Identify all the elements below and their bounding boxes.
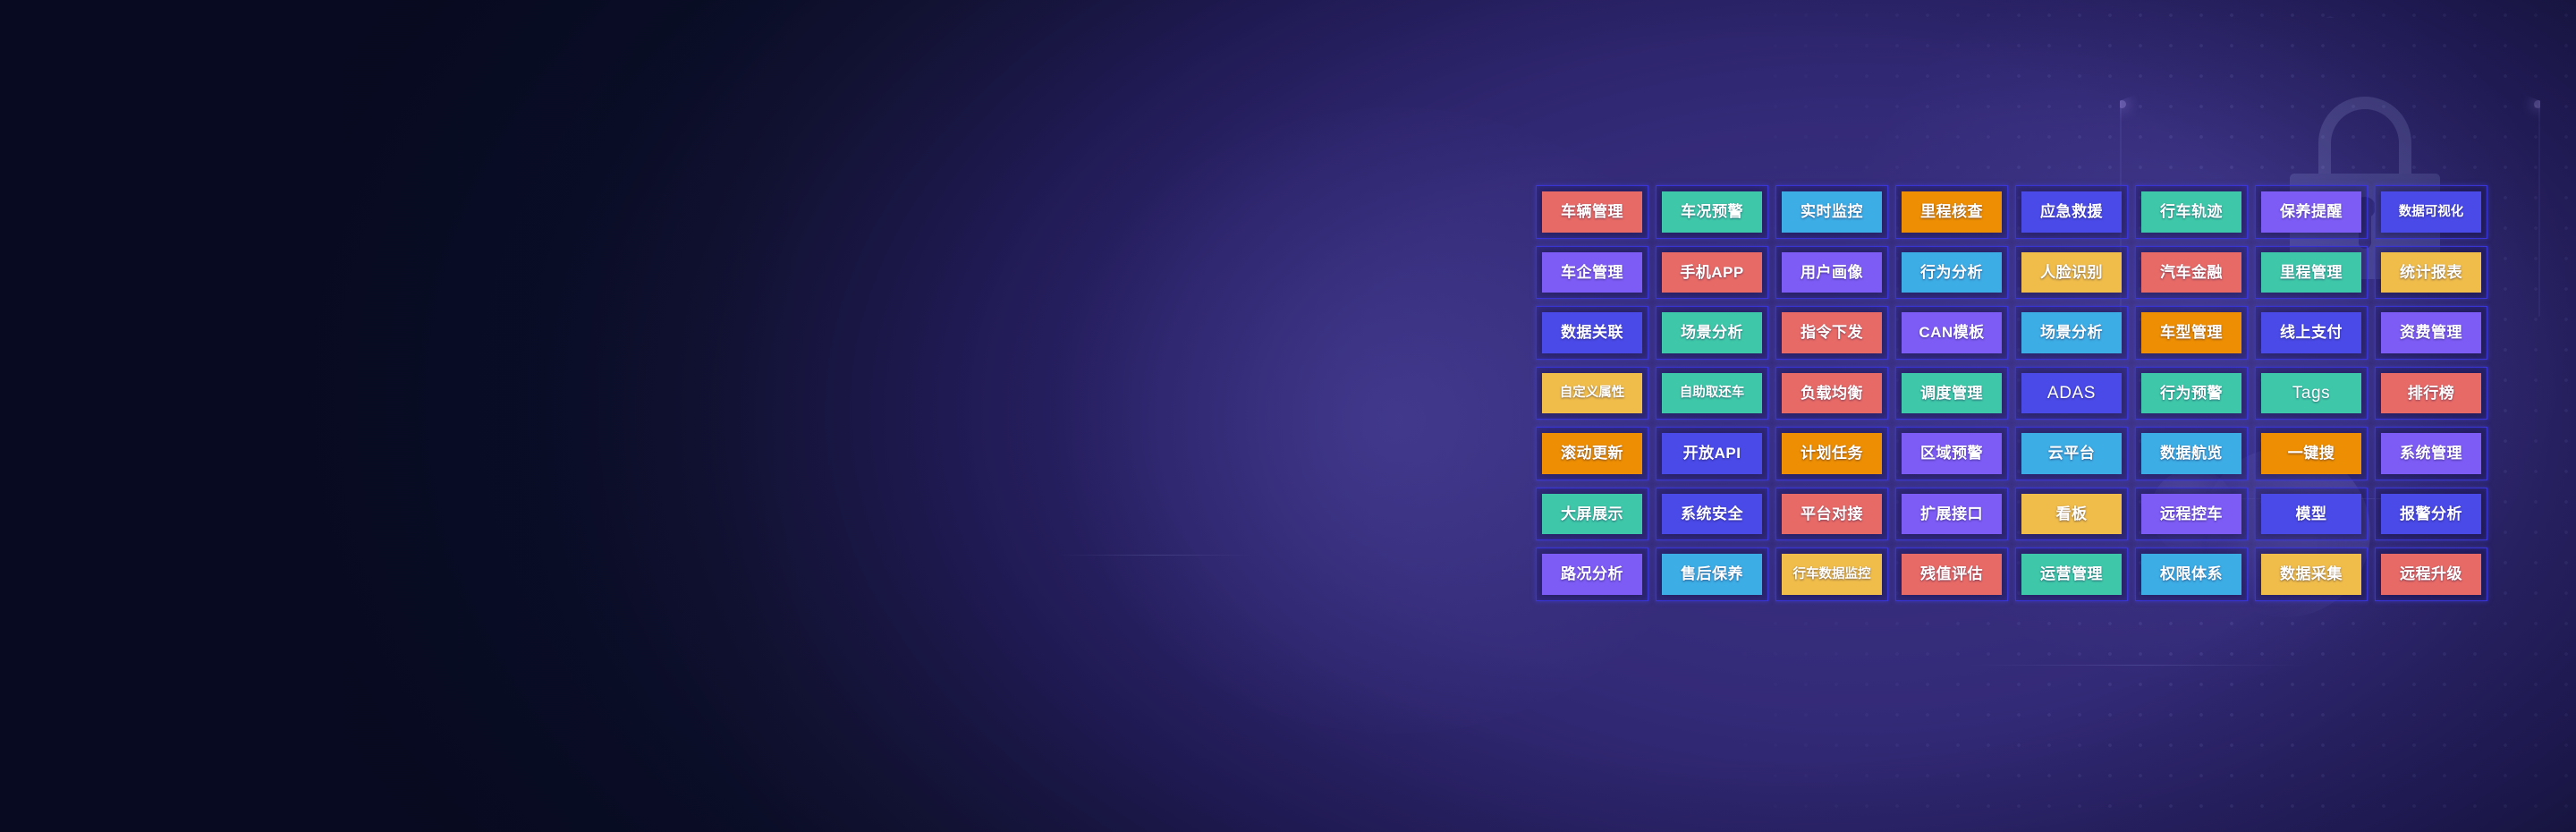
feature-tile[interactable]: 一键搜 bbox=[2253, 425, 2373, 486]
tile-label: 云平台 bbox=[2048, 446, 2096, 461]
tile-fill: 应急救援 bbox=[2021, 191, 2122, 233]
tile-label: 模型 bbox=[2296, 506, 2327, 522]
tile-fill: 汽车金融 bbox=[2141, 252, 2241, 293]
feature-tile[interactable]: 售后保养 bbox=[1654, 546, 1774, 607]
tile-label: 一键搜 bbox=[2288, 446, 2335, 461]
feature-tile[interactable]: 数据采集 bbox=[2253, 546, 2373, 607]
tile-fill: 数据关联 bbox=[1542, 312, 1642, 353]
tile-fill: 自助取还车 bbox=[1662, 373, 1762, 414]
feature-tile[interactable]: 运营管理 bbox=[2013, 546, 2133, 607]
tile-label: 行车数据监控 bbox=[1793, 568, 1871, 582]
tile-fill: 行为预警 bbox=[2141, 373, 2241, 414]
feature-tile[interactable]: 实时监控 bbox=[1774, 183, 1894, 244]
tile-fill: 负载均衡 bbox=[1782, 373, 1882, 414]
feature-tile[interactable]: 模型 bbox=[2253, 486, 2373, 547]
tile-fill: 行为分析 bbox=[1902, 252, 2002, 293]
tile-label: 数据可视化 bbox=[2399, 206, 2464, 219]
tile-label: 车企管理 bbox=[1561, 265, 1623, 280]
tile-label: CAN模板 bbox=[1919, 325, 1984, 340]
feature-tile[interactable]: 线上支付 bbox=[2253, 304, 2373, 365]
feature-tile[interactable]: 残值评估 bbox=[1894, 546, 2013, 607]
feature-tile[interactable]: 扩展接口 bbox=[1894, 486, 2013, 547]
tile-fill: 系统管理 bbox=[2381, 433, 2481, 474]
tile-fill: 车辆管理 bbox=[1542, 191, 1642, 233]
feature-tile[interactable]: 看板 bbox=[2013, 486, 2133, 547]
tile-label: 人脸识别 bbox=[2040, 265, 2103, 280]
feature-tile[interactable]: 行车轨迹 bbox=[2133, 183, 2253, 244]
tile-label: 权限体系 bbox=[2160, 566, 2223, 582]
feature-tile[interactable]: 数据关联 bbox=[1534, 304, 1654, 365]
tile-label: 实时监控 bbox=[1801, 204, 1863, 219]
tile-fill: 路况分析 bbox=[1542, 554, 1642, 595]
feature-tile[interactable]: 人脸识别 bbox=[2013, 244, 2133, 305]
feature-tile[interactable]: 数据航览 bbox=[2133, 425, 2253, 486]
feature-tile[interactable]: CAN模板 bbox=[1894, 304, 2013, 365]
tile-fill: 人脸识别 bbox=[2021, 252, 2122, 293]
tile-label: 报警分析 bbox=[2400, 506, 2462, 522]
tile-label: 数据采集 bbox=[2280, 566, 2343, 582]
tile-label: 场景分析 bbox=[2040, 325, 2103, 340]
feature-tile[interactable]: 权限体系 bbox=[2133, 546, 2253, 607]
tile-label: 里程核查 bbox=[1920, 204, 1983, 219]
tile-fill: 统计报表 bbox=[2381, 252, 2481, 293]
tile-fill: 数据可视化 bbox=[2381, 191, 2481, 233]
tile-label: 扩展接口 bbox=[1920, 506, 1983, 522]
tile-fill: 远程控车 bbox=[2141, 494, 2241, 535]
feature-tile[interactable]: 行车数据监控 bbox=[1774, 546, 1894, 607]
tile-label: 里程管理 bbox=[2280, 265, 2343, 280]
tile-fill: 行车轨迹 bbox=[2141, 191, 2241, 233]
feature-tile[interactable]: 开放API bbox=[1654, 425, 1774, 486]
tile-label: 开放API bbox=[1683, 446, 1741, 461]
feature-tile[interactable]: 车企管理 bbox=[1534, 244, 1654, 305]
feature-tile[interactable]: 负载均衡 bbox=[1774, 365, 1894, 426]
tile-label: 排行榜 bbox=[2408, 386, 2455, 401]
tile-label: 区域预警 bbox=[1920, 446, 1983, 461]
tile-fill: 模型 bbox=[2261, 494, 2361, 535]
tile-label: 大屏展示 bbox=[1561, 506, 1623, 522]
feature-tile[interactable]: 场景分析 bbox=[1654, 304, 1774, 365]
tile-label: 平台对接 bbox=[1801, 506, 1863, 522]
tile-fill: 数据采集 bbox=[2261, 554, 2361, 595]
tile-fill: 开放API bbox=[1662, 433, 1762, 474]
tile-fill: Tags bbox=[2261, 373, 2361, 414]
tile-fill: 车况预警 bbox=[1662, 191, 1762, 233]
feature-tile[interactable]: 计划任务 bbox=[1774, 425, 1894, 486]
tile-fill: 运营管理 bbox=[2021, 554, 2122, 595]
tile-fill: 实时监控 bbox=[1782, 191, 1882, 233]
feature-tile[interactable]: 区域预警 bbox=[1894, 425, 2013, 486]
feature-tile[interactable]: 里程核查 bbox=[1894, 183, 2013, 244]
tile-label: 统计报表 bbox=[2400, 265, 2462, 280]
tile-fill: 行车数据监控 bbox=[1782, 554, 1882, 595]
tile-label: 手机APP bbox=[1680, 265, 1743, 280]
feature-tile[interactable]: ADAS bbox=[2013, 365, 2133, 426]
tile-fill: 大屏展示 bbox=[1542, 494, 1642, 535]
tile-label: Tags bbox=[2292, 385, 2331, 402]
tile-fill: 手机APP bbox=[1662, 252, 1762, 293]
tile-label: 数据关联 bbox=[1561, 325, 1623, 340]
tile-label: 场景分析 bbox=[1681, 325, 1743, 340]
tile-fill: 看板 bbox=[2021, 494, 2122, 535]
tile-label: 自助取还车 bbox=[1680, 386, 1745, 400]
tile-fill: 车型管理 bbox=[2141, 312, 2241, 353]
feature-tile[interactable]: 自助取还车 bbox=[1654, 365, 1774, 426]
feature-tile[interactable]: 统计报表 bbox=[2373, 244, 2493, 305]
tile-label: 用户画像 bbox=[1801, 265, 1863, 280]
tile-label: 车型管理 bbox=[2160, 325, 2223, 340]
feature-tile[interactable]: 车况预警 bbox=[1654, 183, 1774, 244]
feature-tile[interactable]: 应急救援 bbox=[2013, 183, 2133, 244]
tile-fill: 一键搜 bbox=[2261, 433, 2361, 474]
tile-fill: 平台对接 bbox=[1782, 494, 1882, 535]
tile-label: 线上支付 bbox=[2280, 325, 2343, 340]
tile-label: 远程升级 bbox=[2400, 566, 2462, 582]
tile-label: 车辆管理 bbox=[1561, 204, 1623, 219]
tile-fill: ADAS bbox=[2021, 373, 2122, 414]
feature-tile[interactable]: 平台对接 bbox=[1774, 486, 1894, 547]
tile-label: ADAS bbox=[2047, 385, 2096, 402]
tile-fill: 线上支付 bbox=[2261, 312, 2361, 353]
tile-fill: 里程管理 bbox=[2261, 252, 2361, 293]
feature-tile[interactable]: 用户画像 bbox=[1774, 244, 1894, 305]
tile-label: 车况预警 bbox=[1681, 204, 1743, 219]
tile-fill: 指令下发 bbox=[1782, 312, 1882, 353]
tile-label: 运营管理 bbox=[2040, 566, 2103, 582]
feature-tile[interactable]: 汽车金融 bbox=[2133, 244, 2253, 305]
tile-fill: 里程核查 bbox=[1902, 191, 2002, 233]
tile-fill: 排行榜 bbox=[2381, 373, 2481, 414]
tile-fill: 残值评估 bbox=[1902, 554, 2002, 595]
tile-label: 残值评估 bbox=[1920, 566, 1983, 582]
tile-label: 资费管理 bbox=[2400, 325, 2462, 340]
tile-label: 自定义属性 bbox=[1560, 386, 1625, 400]
tile-label: 行为分析 bbox=[1920, 265, 1983, 280]
feature-tile[interactable]: 自定义属性 bbox=[1534, 365, 1654, 426]
feature-tile[interactable]: 车型管理 bbox=[2133, 304, 2253, 365]
tile-fill: 自定义属性 bbox=[1542, 373, 1642, 414]
feature-tile[interactable]: 排行榜 bbox=[2373, 365, 2493, 426]
tile-fill: 场景分析 bbox=[2021, 312, 2122, 353]
tile-label: 路况分析 bbox=[1561, 566, 1623, 582]
tile-label: 远程控车 bbox=[2160, 506, 2223, 522]
tile-label: 行为预警 bbox=[2160, 386, 2223, 401]
tile-label: 系统安全 bbox=[1681, 506, 1743, 522]
tile-fill: 滚动更新 bbox=[1542, 433, 1642, 474]
tile-fill: 权限体系 bbox=[2141, 554, 2241, 595]
feature-tile[interactable]: 数据可视化 bbox=[2373, 183, 2493, 244]
tile-fill: 售后保养 bbox=[1662, 554, 1762, 595]
feature-tile[interactable]: 调度管理 bbox=[1894, 365, 2013, 426]
tile-fill: 车企管理 bbox=[1542, 252, 1642, 293]
tile-fill: 区域预警 bbox=[1902, 433, 2002, 474]
feature-tile[interactable]: 车辆管理 bbox=[1534, 183, 1654, 244]
tile-label: 行车轨迹 bbox=[2160, 204, 2223, 219]
tile-label: 指令下发 bbox=[1801, 325, 1863, 340]
feature-tile-grid: 车辆管理车况预警实时监控里程核查应急救援行车轨迹保养提醒数据可视化车企管理手机A… bbox=[1534, 183, 2493, 607]
tile-fill: 调度管理 bbox=[1902, 373, 2002, 414]
feature-tile[interactable]: 远程升级 bbox=[2373, 546, 2493, 607]
tile-fill: 计划任务 bbox=[1782, 433, 1882, 474]
tile-label: 看板 bbox=[2056, 506, 2088, 522]
tile-label: 应急救援 bbox=[2040, 204, 2103, 219]
tile-fill: 数据航览 bbox=[2141, 433, 2241, 474]
feature-tile[interactable]: Tags bbox=[2253, 365, 2373, 426]
tile-label: 系统管理 bbox=[2400, 446, 2462, 461]
tile-label: 售后保养 bbox=[1681, 566, 1743, 582]
feature-tile[interactable]: 里程管理 bbox=[2253, 244, 2373, 305]
feature-tile[interactable]: 滚动更新 bbox=[1534, 425, 1654, 486]
feature-tile[interactable]: 大屏展示 bbox=[1534, 486, 1654, 547]
feature-tile[interactable]: 系统安全 bbox=[1654, 486, 1774, 547]
tile-fill: 用户画像 bbox=[1782, 252, 1882, 293]
tile-fill: 报警分析 bbox=[2381, 494, 2481, 535]
tile-label: 数据航览 bbox=[2160, 446, 2223, 461]
tile-fill: 场景分析 bbox=[1662, 312, 1762, 353]
feature-tile[interactable]: 手机APP bbox=[1654, 244, 1774, 305]
tile-label: 计划任务 bbox=[1801, 446, 1863, 461]
tile-fill: 远程升级 bbox=[2381, 554, 2481, 595]
feature-tile[interactable]: 保养提醒 bbox=[2253, 183, 2373, 244]
feature-tile[interactable]: 报警分析 bbox=[2373, 486, 2493, 547]
tile-fill: CAN模板 bbox=[1902, 312, 2002, 353]
tile-fill: 扩展接口 bbox=[1902, 494, 2002, 535]
tile-label: 负载均衡 bbox=[1801, 386, 1863, 401]
tile-fill: 系统安全 bbox=[1662, 494, 1762, 535]
feature-tile[interactable]: 资费管理 bbox=[2373, 304, 2493, 365]
feature-tile[interactable]: 指令下发 bbox=[1774, 304, 1894, 365]
feature-tile[interactable]: 场景分析 bbox=[2013, 304, 2133, 365]
tile-label: 调度管理 bbox=[1920, 386, 1983, 401]
tile-fill: 保养提醒 bbox=[2261, 191, 2361, 233]
feature-tile[interactable]: 云平台 bbox=[2013, 425, 2133, 486]
tile-fill: 资费管理 bbox=[2381, 312, 2481, 353]
feature-tile[interactable]: 远程控车 bbox=[2133, 486, 2253, 547]
feature-tile[interactable]: 行为分析 bbox=[1894, 244, 2013, 305]
tile-label: 汽车金融 bbox=[2160, 265, 2223, 280]
feature-tile[interactable]: 路况分析 bbox=[1534, 546, 1654, 607]
tile-fill: 云平台 bbox=[2021, 433, 2122, 474]
feature-tile[interactable]: 系统管理 bbox=[2373, 425, 2493, 486]
feature-tile[interactable]: 行为预警 bbox=[2133, 365, 2253, 426]
tile-label: 滚动更新 bbox=[1561, 446, 1623, 461]
tile-label: 保养提醒 bbox=[2280, 204, 2343, 219]
